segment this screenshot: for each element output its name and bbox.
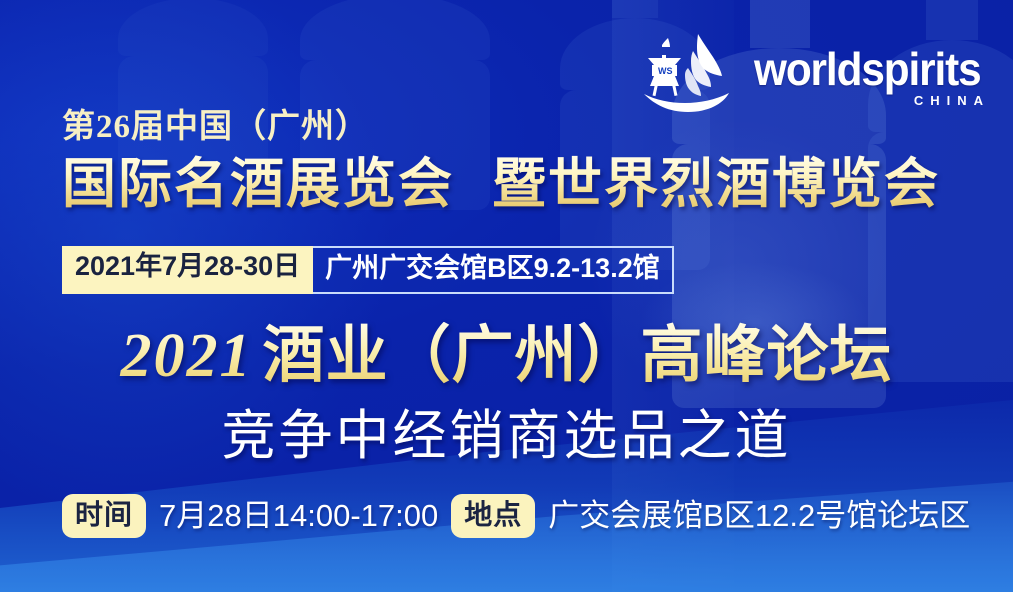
time-value: 7月28日14:00-17:00 [159, 497, 438, 534]
edition-line: 第26届中国（广州） [62, 108, 992, 147]
footer-meta: 时间 7月28日14:00-17:00 地点 广交会展馆B区12.2号馆论坛区 [62, 494, 970, 538]
event-venue-box: 广州广交会馆B区9.2-13.2馆 [313, 246, 674, 294]
forum-title-text: 酒业（广州）高峰论坛 [262, 322, 892, 390]
date-venue-strip: 2021年7月28-30日 广州广交会馆B区9.2-13.2馆 [62, 246, 674, 294]
forum-subtitle: 竞争中经销商选品之道 [0, 404, 1013, 469]
headline-block: 第26届中国（广州） 国际名酒展览会暨世界烈酒博览会 [62, 108, 992, 216]
sailing-ship-icon: WS [636, 32, 748, 116]
forum-year: 2021 [120, 322, 262, 390]
event-poster: WS worldspirits CHINA 第26届中国（广州） 国际名酒展览会… [0, 0, 1013, 592]
logo-subtitle: CHINA [914, 94, 990, 107]
exhibition-title: 国际名酒展览会暨世界烈酒博览会 [62, 153, 992, 216]
place-value: 广交会展馆B区12.2号馆论坛区 [548, 497, 970, 534]
event-date-chip: 2021年7月28-30日 [62, 246, 313, 294]
exhibition-title-secondary: 暨世界烈酒博览会 [492, 154, 940, 214]
exhibition-title-main: 国际名酒展览会 [62, 154, 454, 214]
worldspirits-logo: WS worldspirits CHINA [636, 28, 996, 120]
time-label-badge: 时间 [62, 494, 146, 538]
place-label-badge: 地点 [451, 494, 535, 538]
forum-title: 2021酒业（广州）高峰论坛 [0, 322, 1013, 391]
logo-wordmark: worldspirits [754, 46, 981, 92]
svg-text:WS: WS [658, 66, 673, 76]
